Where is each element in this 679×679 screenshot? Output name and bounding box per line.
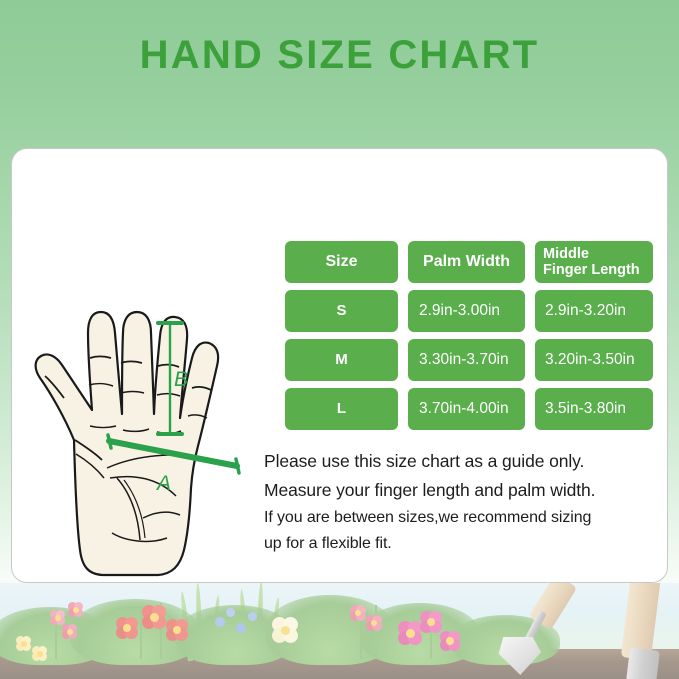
header-cell-finger-length: Middle Finger Length [535, 241, 653, 283]
cell-size-s: S [285, 290, 398, 332]
floral-garden-banner [0, 583, 679, 679]
fork-ferrule-icon [626, 647, 660, 679]
size-table: Size Palm Width Middle Finger Length S 2… [285, 241, 653, 437]
cell-finger-l: 3.5in-3.80in [535, 388, 653, 430]
magenta-flower [398, 621, 422, 645]
cell-size-l: L [285, 388, 398, 430]
pink-flower [62, 624, 77, 639]
blue-flower [236, 623, 246, 633]
hand-diagram: B A [12, 178, 282, 578]
table-row: S 2.9in-3.00in 2.9in-3.20in [285, 290, 653, 332]
table-row: L 3.70in-4.00in 3.5in-3.80in [285, 388, 653, 430]
pink-flower [350, 605, 366, 621]
cell-palm-s: 2.9in-3.00in [408, 290, 525, 332]
cell-palm-l: 3.70in-4.00in [408, 388, 525, 430]
blue-flower [226, 608, 235, 617]
magenta-flower [420, 611, 442, 633]
note-line-1: Please use this size chart as a guide on… [264, 447, 664, 476]
header-cell-size: Size [285, 241, 398, 283]
hand-size-chart-page: HAND SIZE CHART [0, 0, 679, 679]
magenta-flower [440, 631, 460, 651]
table-row: M 3.30in-3.70in 3.20in-3.50in [285, 339, 653, 381]
flower-stem [375, 605, 377, 659]
red-flower [116, 617, 138, 639]
cell-finger-s: 2.9in-3.20in [535, 290, 653, 332]
blue-flower [248, 612, 257, 621]
cell-palm-m: 3.30in-3.70in [408, 339, 525, 381]
red-flower [166, 619, 188, 641]
note-line-3: If you are between sizes,we recommend si… [264, 505, 664, 531]
notes-block: Please use this size chart as a guide on… [264, 447, 664, 557]
table-header-row: Size Palm Width Middle Finger Length [285, 241, 653, 283]
yellow-flower [32, 646, 47, 661]
pink-flower [68, 602, 83, 617]
header-cell-palm-width: Palm Width [408, 241, 525, 283]
flower-stem [55, 625, 57, 659]
yellow-flower [16, 636, 31, 651]
header-finger-line1: Middle [543, 246, 589, 262]
note-line-4: up for a flexible fit. [264, 531, 664, 557]
cell-size-m: M [285, 339, 398, 381]
pink-flower [50, 610, 65, 625]
header-finger-line2: Finger Length [543, 262, 640, 278]
pink-flower [366, 615, 382, 631]
red-flower [142, 605, 166, 629]
cream-flower [272, 617, 298, 643]
blue-flower [215, 617, 225, 627]
note-line-2: Measure your finger length and palm widt… [264, 476, 664, 505]
page-title: HAND SIZE CHART [0, 33, 679, 78]
cell-finger-m: 3.20in-3.50in [535, 339, 653, 381]
measure-label-a: A [155, 472, 171, 495]
measure-label-b: B [174, 368, 188, 391]
